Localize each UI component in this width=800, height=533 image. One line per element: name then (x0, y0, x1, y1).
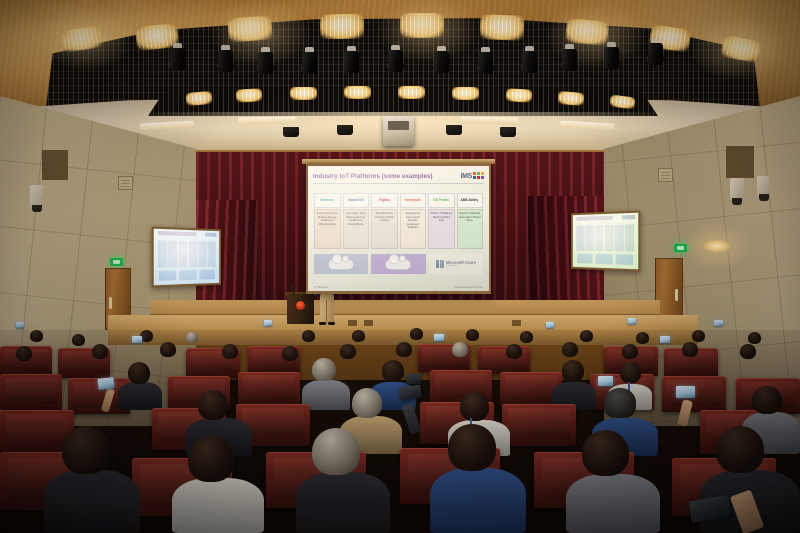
cloud-platform-cell-1 (314, 254, 368, 274)
platform-logo-text: Honeywell (405, 199, 421, 202)
cloud-platform-cell-2 (371, 254, 425, 274)
platform-column: ABB Ability Electric Industrial Automati… (457, 193, 484, 249)
audience-head (302, 330, 315, 342)
seat (238, 372, 300, 406)
audience-head (352, 330, 365, 342)
presenter-shoe (319, 322, 326, 325)
soffit-lamp (185, 91, 212, 106)
platform-logo-text: Fujitsu (379, 199, 390, 202)
platform-body-cell: Automation Drive Building Energy Healthc… (343, 209, 370, 249)
right-side-monitor (571, 210, 640, 271)
door-handle-icon (109, 297, 112, 309)
soffit-recessed-light (460, 116, 518, 124)
audience-head (562, 342, 578, 357)
audience-head (580, 330, 593, 342)
audience-head-with-cap (604, 388, 636, 418)
wall-niche (42, 150, 68, 180)
spotlight-head (258, 52, 273, 74)
right-monitor-screen (573, 213, 639, 270)
slide-platform-columns: Siemens Automation Drive Building Energy… (314, 193, 483, 249)
platform-logo-text: Bosch IoT (348, 199, 364, 202)
attendee-phone (132, 336, 142, 343)
soffit-recessed-light (238, 116, 296, 124)
azure-logo: Microsoft Azure IoT Solutions (436, 260, 476, 268)
platform-logo-text: GE Predix (433, 199, 449, 202)
stage-vent (512, 320, 521, 326)
audience-head (562, 360, 584, 382)
platform-logo-text: ABB Ability (461, 199, 479, 202)
spotlight-head (562, 49, 577, 71)
audience-head (128, 362, 150, 384)
wall-sconce (704, 240, 730, 252)
audience-head (740, 344, 756, 359)
wall-speaker (757, 176, 769, 196)
spotlight-head (604, 47, 619, 69)
audience-shoulders (296, 472, 390, 533)
ims-logo-mark (473, 172, 484, 181)
platform-column: Bosch IoT Automation Drive Building Ener… (343, 193, 370, 249)
soffit-lamp (398, 86, 425, 99)
slide-footer-left: IoT Platforms (314, 286, 328, 289)
platform-column: Honeywell Engineering Instruments Sensor… (400, 193, 427, 249)
microsoft-grid-icon (436, 260, 444, 268)
audience-shoulders (118, 382, 162, 410)
left-side-monitor (152, 226, 221, 287)
ceiling-lamp (400, 13, 444, 38)
audience-head (506, 344, 522, 359)
stage-spotlight (302, 52, 317, 73)
audience-head (222, 344, 238, 359)
attendee-phone (676, 386, 695, 398)
spotlight-head (344, 51, 359, 73)
stage-spotlight (170, 48, 185, 69)
cloud-platform-cell-3: Microsoft Azure IoT Solutions (429, 254, 483, 274)
platform-body-cell: Engineering Instruments Sensors Aerospac… (400, 209, 427, 249)
wall-speaker (730, 178, 744, 200)
wall-speaker (30, 185, 44, 207)
attendee-phone (598, 376, 613, 386)
slide-cloud-row: Microsoft Azure IoT Solutions (314, 254, 483, 274)
platform-column: Siemens Automation Drive Building Energy… (314, 193, 341, 249)
audience-head (312, 428, 360, 475)
audience-head (692, 330, 705, 342)
presentation-slide: Industry IoT Platforms (some examples) i… (308, 166, 489, 291)
presenter-leg-divider (326, 300, 327, 324)
wall-air-vent (118, 176, 133, 190)
stage-vent (348, 320, 357, 326)
door-handle-icon (675, 289, 678, 301)
seat (502, 404, 576, 446)
cloud-icon (385, 259, 411, 270)
attendee-phone (714, 320, 723, 326)
audience-shoulders (44, 470, 140, 533)
spotlight-head (218, 50, 233, 72)
audience-head (396, 342, 412, 357)
audience-head (186, 332, 198, 343)
audience-head (92, 344, 108, 359)
ceiling-speaker (446, 125, 462, 135)
attendee-phone (660, 336, 670, 343)
left-monitor-screen (154, 229, 220, 286)
platform-logo-cell: GE Predix (428, 193, 455, 208)
spotlight-head (170, 48, 185, 70)
audience-head (682, 342, 698, 357)
stage-spotlight (648, 43, 663, 64)
audience-head (198, 390, 228, 420)
platform-logo-text: Siemens (321, 199, 334, 202)
audience-head (582, 430, 629, 476)
platform-body-cell: Manufacturing Transport Plant Cockpit (371, 209, 398, 249)
audience-shoulders (172, 478, 264, 533)
ceiling-lamp (320, 14, 364, 40)
exit-sign-right (674, 244, 687, 252)
platform-column: GE Predix Power IT Building Machine Plan… (428, 193, 455, 249)
soffit-lamp (344, 86, 371, 99)
platform-logo-cell: Fujitsu (371, 193, 398, 208)
stage-vent (364, 320, 373, 326)
slide-header: Industry IoT Platforms (some examples) i… (313, 170, 484, 182)
auditorium-screenshot: Industry IoT Platforms (some examples) i… (0, 0, 800, 533)
azure-logo-sublabel: IoT Solutions (446, 265, 476, 267)
audience-shoulders (430, 468, 526, 533)
platform-logo-cell: Siemens (314, 193, 341, 208)
stage-spotlight (218, 50, 233, 71)
soffit-lamp (452, 87, 479, 100)
wall-air-vent (658, 168, 673, 182)
spotlight-head (522, 51, 537, 73)
lectern-emblem (296, 301, 305, 310)
spotlight-head (648, 43, 663, 65)
attendee-phone (434, 334, 444, 341)
audience-head (72, 334, 85, 346)
platform-logo-cell: Honeywell (400, 193, 427, 208)
audience-head (520, 331, 533, 343)
attendee-phone (97, 377, 114, 390)
stage-spotlight (478, 52, 493, 73)
stage-spotlight (388, 50, 403, 71)
soffit-lamp (506, 88, 533, 102)
audience-head (382, 360, 404, 382)
attendee-phone (264, 320, 272, 326)
ceiling-lamp (227, 15, 273, 42)
spotlight-head (388, 50, 403, 72)
spotlight-head (302, 52, 317, 74)
audience-head (748, 332, 761, 344)
projector-lens (388, 121, 409, 130)
audience-head (410, 328, 423, 340)
slide-footer-right: Industrial Internet of Things (454, 286, 483, 289)
ceiling-speaker (337, 125, 353, 135)
audience-head (16, 346, 32, 361)
spotlight-head (434, 51, 449, 73)
ceiling-projector (383, 116, 414, 146)
presenter-shoe (328, 322, 335, 325)
monitor-glare (573, 213, 639, 270)
spotlight-head (478, 52, 493, 74)
platform-column: Fujitsu Manufacturing Transport Plant Co… (371, 193, 398, 249)
audience-shoulders (566, 474, 660, 533)
attendee-phone (546, 322, 554, 328)
soffit-lamp (557, 91, 584, 106)
audience-head (340, 344, 356, 359)
stage-spotlight (604, 47, 619, 68)
audience-head (636, 332, 649, 344)
platform-body-cell: Automation Drive Building Energy Healthc… (314, 209, 341, 249)
stage-spotlight (344, 51, 359, 72)
audience-head (752, 386, 782, 414)
platform-body-cell: Power IT Building Machine Plant Grid (428, 209, 455, 249)
platform-body-cell: Electric Industrial Automation Power Dri… (457, 209, 484, 249)
audience-head (282, 346, 298, 361)
attendee-phone (406, 374, 421, 384)
audience-head (312, 358, 336, 381)
cloud-icon (328, 259, 354, 270)
ims-logo-text: iMS (460, 173, 472, 180)
soffit-lamp (290, 87, 317, 100)
audience-head (716, 426, 764, 473)
slide-title: Industry IoT Platforms (some examples) (313, 173, 433, 180)
seat (0, 374, 62, 410)
attendee-phone (16, 322, 24, 328)
audience-head (622, 344, 638, 359)
audience-head (460, 392, 489, 421)
stage-spotlight (258, 52, 273, 73)
wall-niche (726, 146, 754, 178)
soffit-lamp (236, 88, 263, 102)
audience-head (352, 388, 382, 418)
audience-head (448, 424, 496, 471)
exit-sign-left (110, 258, 123, 266)
audience-head (620, 362, 641, 383)
ceiling-speaker (500, 127, 516, 137)
ceiling-lamp (565, 18, 609, 46)
audience-head (452, 342, 468, 357)
ceiling-lamp (480, 14, 525, 41)
audience-head (30, 330, 43, 342)
audience-head (188, 436, 234, 482)
stage-spotlight (434, 51, 449, 72)
audience-head (160, 342, 176, 357)
slide-title-divider (313, 183, 484, 184)
stage-spotlight (562, 49, 577, 70)
ims-logo: iMS (460, 172, 484, 181)
slide-footer: IoT Platforms Industrial Internet of Thi… (314, 286, 483, 289)
platform-logo-cell: ABB Ability (457, 193, 484, 208)
monitor-glare (154, 229, 220, 286)
audience-head (466, 329, 479, 341)
audience-head (62, 426, 110, 474)
stage-spotlight (522, 51, 537, 72)
ceiling-speaker (283, 127, 299, 137)
attendee-phone (628, 318, 636, 324)
platform-logo-cell: Bosch IoT (343, 193, 370, 208)
